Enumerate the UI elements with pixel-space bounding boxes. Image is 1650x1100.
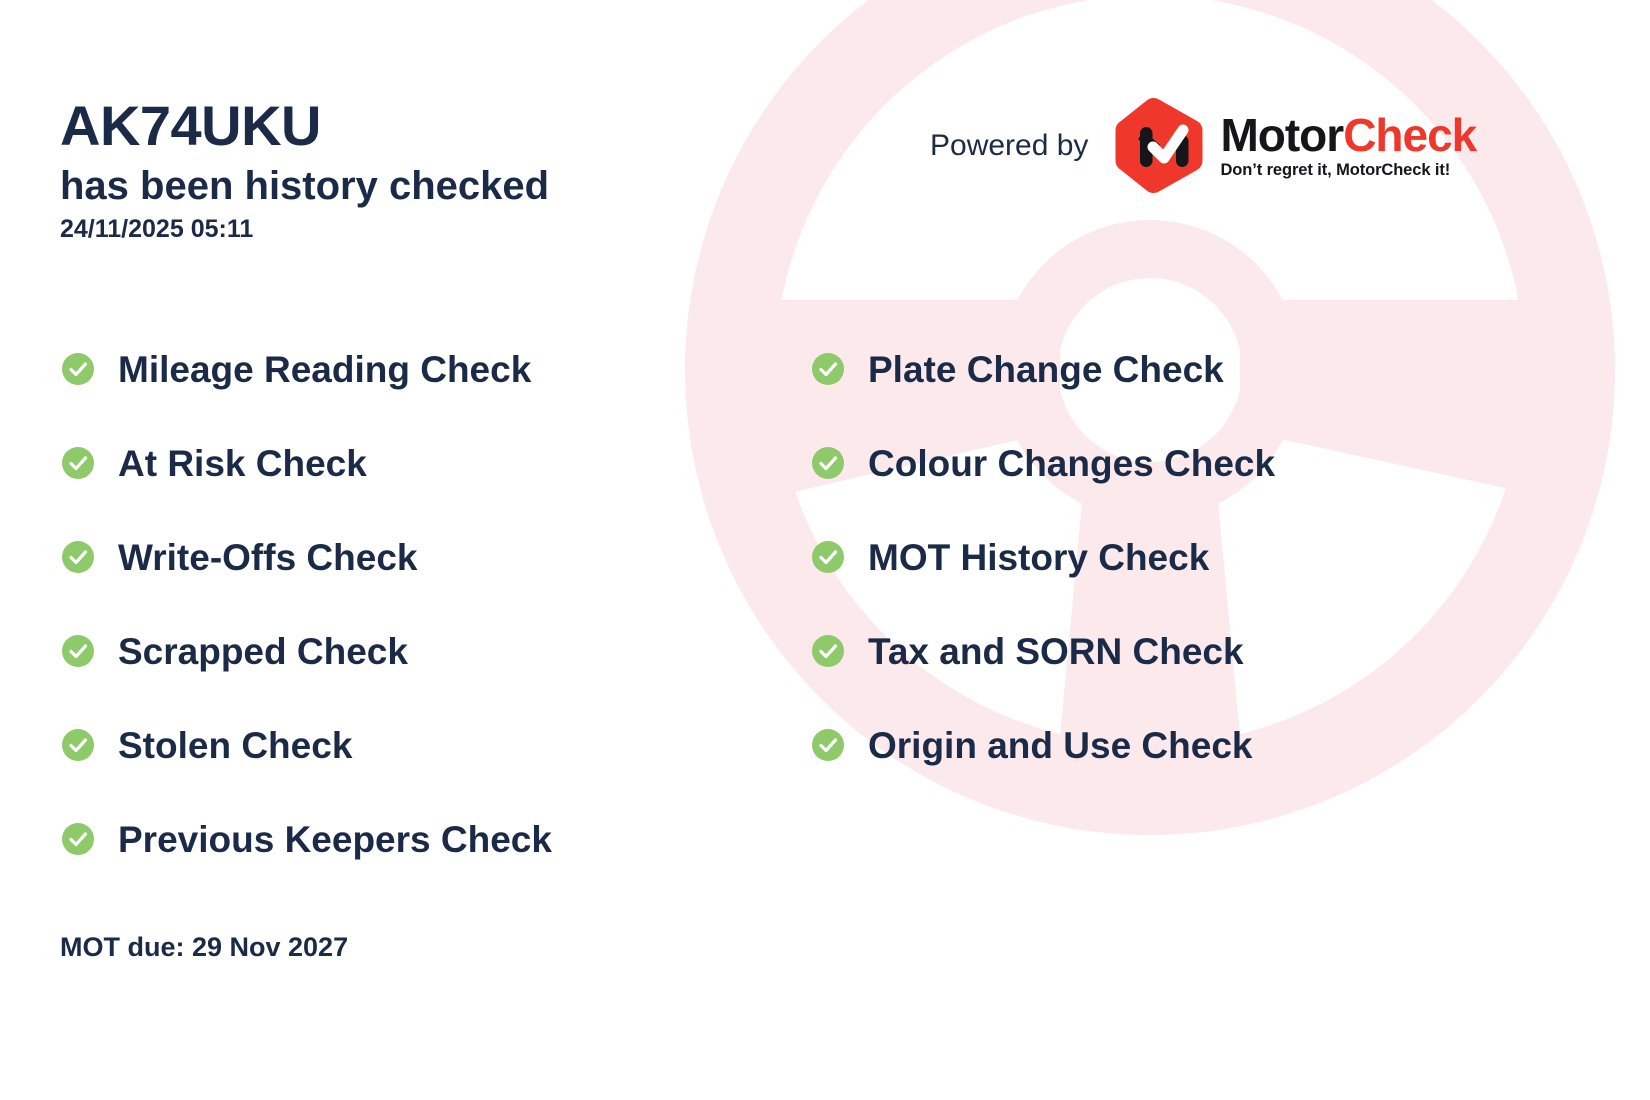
green-check-icon (812, 729, 844, 761)
check-label: MOT History Check (868, 539, 1209, 576)
green-check-icon (62, 353, 94, 385)
green-check-icon (62, 823, 94, 855)
check-label: Write-Offs Check (118, 539, 418, 576)
motorcheck-wordmark: MotorCheck (1220, 112, 1476, 158)
powered-by-label: Powered by (930, 129, 1088, 163)
check-label: Colour Changes Check (868, 445, 1275, 482)
green-check-icon (812, 541, 844, 573)
check-label: Scrapped Check (118, 633, 408, 670)
green-check-icon (62, 447, 94, 479)
green-check-icon (62, 541, 94, 573)
list-item: Origin and Use Check (812, 698, 1275, 792)
check-label: Plate Change Check (868, 351, 1224, 388)
check-timestamp: 24/11/2025 05:11 (60, 215, 549, 244)
page-subheading: has been history checked (60, 164, 549, 209)
green-check-icon (812, 447, 844, 479)
green-check-icon (62, 635, 94, 667)
green-check-icon (812, 635, 844, 667)
list-item: At Risk Check (62, 416, 552, 510)
mot-due-date: MOT due: 29 Nov 2027 (60, 932, 348, 963)
wordmark-check: Check (1343, 109, 1476, 161)
list-item: Stolen Check (62, 698, 552, 792)
list-item: Plate Change Check (812, 322, 1275, 416)
list-item: Write-Offs Check (62, 510, 552, 604)
check-list-left: Mileage Reading Check At Risk Check Writ… (62, 322, 552, 886)
motorcheck-logo[interactable]: MotorCheck Don’t regret it, MotorCheck i… (1114, 98, 1476, 193)
check-label: Origin and Use Check (868, 727, 1253, 764)
vehicle-registration: AK74UKU (60, 98, 549, 154)
list-item: Mileage Reading Check (62, 322, 552, 416)
check-list-right: Plate Change Check Colour Changes Check … (812, 322, 1275, 792)
green-check-icon (62, 729, 94, 761)
check-label: Previous Keepers Check (118, 821, 552, 858)
brand-tagline: Don’t regret it, MotorCheck it! (1220, 161, 1476, 180)
list-item: Tax and SORN Check (812, 604, 1275, 698)
list-item: Colour Changes Check (812, 416, 1275, 510)
list-item: Scrapped Check (62, 604, 552, 698)
check-label: Stolen Check (118, 727, 352, 764)
wordmark-motor: Motor (1220, 109, 1343, 161)
check-label: Mileage Reading Check (118, 351, 531, 388)
powered-by-branding: Powered by MotorCheck Don’t regret it, M… (930, 98, 1476, 193)
green-check-icon (812, 353, 844, 385)
page-title: AK74UKU has been history checked 24/11/2… (60, 98, 549, 244)
list-item: Previous Keepers Check (62, 792, 552, 886)
check-label: Tax and SORN Check (868, 633, 1244, 670)
motorcheck-hexagon-m-check-icon (1114, 98, 1204, 193)
list-item: MOT History Check (812, 510, 1275, 604)
check-label: At Risk Check (118, 445, 367, 482)
